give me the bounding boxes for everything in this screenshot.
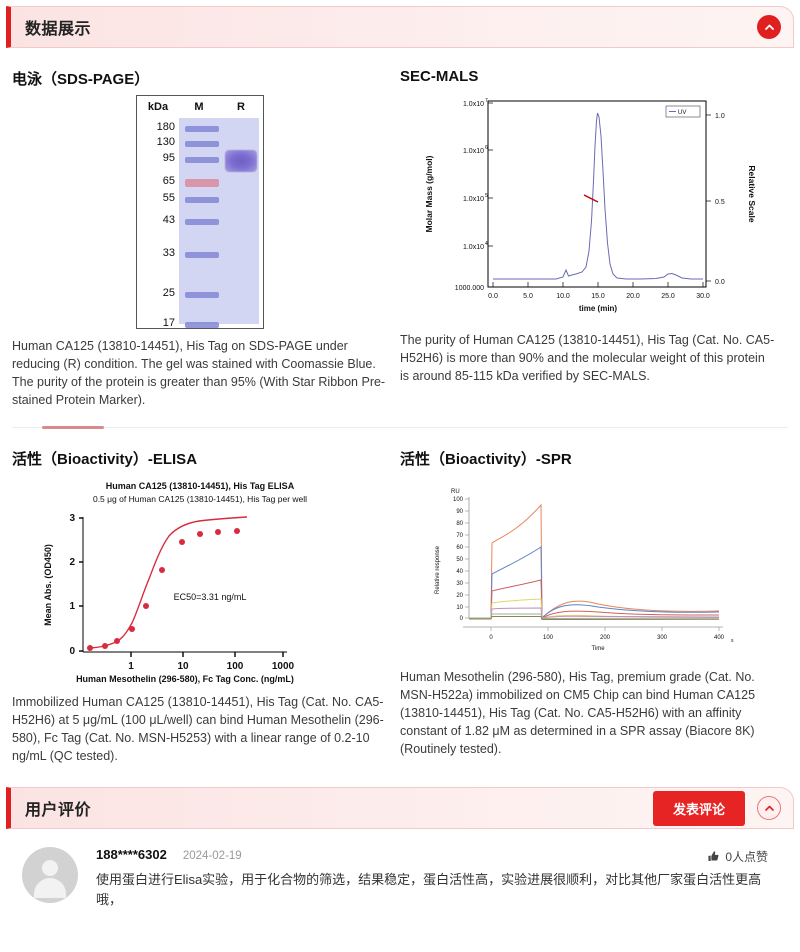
gel-band-33 bbox=[185, 252, 219, 258]
svg-text:15.0: 15.0 bbox=[591, 293, 605, 300]
gel-label-180: 180 bbox=[157, 121, 175, 133]
svg-text:100: 100 bbox=[227, 661, 244, 672]
gel-column-headers: kDa M R bbox=[137, 96, 263, 118]
figure-row-2: 活性（Bioactivity）-ELISA Human CA125 (13810… bbox=[12, 428, 788, 765]
svg-text:0.5: 0.5 bbox=[715, 199, 725, 206]
svg-text:25.0: 25.0 bbox=[661, 293, 675, 300]
gel-label-17: 17 bbox=[163, 317, 175, 329]
svg-text:1: 1 bbox=[69, 601, 75, 612]
review-content: 使用蛋白进行Elisa实验，用于化合物的筛选，结果稳定，蛋白活性高，实验进展很顺… bbox=[96, 870, 778, 910]
gel-band-130 bbox=[185, 141, 219, 147]
secmals-figure: 1.0x10 7 1.0x10 6 1.0x10 5 1.0x10 4 1000… bbox=[400, 91, 776, 323]
svg-text:UV: UV bbox=[678, 110, 686, 116]
review-section-banner: 用户评价 发表评论 bbox=[6, 787, 794, 829]
figure-row-1: 电泳（SDS-PAGE） kDa M R bbox=[12, 48, 788, 409]
svg-text:0: 0 bbox=[69, 646, 75, 657]
svg-text:20: 20 bbox=[456, 593, 463, 599]
figure-spr: 活性（Bioactivity）-SPR RU Relative response bbox=[400, 428, 788, 765]
svg-text:1.0x10: 1.0x10 bbox=[462, 196, 483, 203]
gel-image: kDa M R bbox=[136, 95, 264, 329]
gel-band-65 bbox=[185, 179, 219, 187]
svg-text:1000.000: 1000.000 bbox=[454, 285, 483, 292]
spr-chart: RU Relative response bbox=[423, 475, 753, 660]
page-root: 数据展示 电泳（SDS-PAGE） kDa M R bbox=[0, 6, 800, 952]
svg-text:Relative response: Relative response bbox=[435, 545, 441, 594]
elisa-chart: Human CA125 (13810-14451), His Tag ELISA… bbox=[35, 475, 365, 685]
gel-label-43: 43 bbox=[163, 214, 175, 226]
elisa-heading: 活性（Bioactivity）-ELISA bbox=[12, 448, 388, 469]
svg-text:6: 6 bbox=[485, 145, 488, 151]
svg-text:1: 1 bbox=[128, 661, 134, 672]
gel-sample-band bbox=[225, 150, 257, 172]
gel-band-25 bbox=[185, 292, 219, 298]
review-date: 2024-02-19 bbox=[183, 850, 242, 862]
svg-text:time (min): time (min) bbox=[578, 304, 617, 313]
gel-label-130: 130 bbox=[157, 136, 175, 148]
svg-text:1000: 1000 bbox=[272, 661, 295, 672]
gel-header-reducing: R bbox=[219, 101, 263, 113]
figure-elisa: 活性（Bioactivity）-ELISA Human CA125 (13810… bbox=[12, 428, 400, 765]
gel-band-95 bbox=[185, 157, 219, 163]
svg-text:10.0: 10.0 bbox=[556, 293, 570, 300]
svg-text:2: 2 bbox=[69, 557, 75, 568]
svg-text:10: 10 bbox=[177, 661, 189, 672]
gel-label-65: 65 bbox=[163, 175, 175, 187]
review-username: 188****6302 bbox=[96, 847, 167, 862]
secmals-chart: 1.0x10 7 1.0x10 6 1.0x10 5 1.0x10 4 1000… bbox=[416, 91, 761, 323]
svg-text:90: 90 bbox=[456, 509, 463, 515]
section-divider bbox=[12, 427, 788, 428]
gel-ladder-labels: 180 130 95 65 55 43 33 25 17 bbox=[137, 118, 179, 324]
svg-text:40: 40 bbox=[456, 569, 463, 575]
svg-text:7: 7 bbox=[485, 98, 488, 104]
spr-heading: 活性（Bioactivity）-SPR bbox=[400, 448, 776, 469]
user-avatar-icon bbox=[22, 847, 78, 903]
chevron-up-icon[interactable] bbox=[757, 15, 781, 39]
banner-actions bbox=[757, 15, 781, 39]
svg-text:400: 400 bbox=[714, 635, 725, 641]
gel-header-marker: M bbox=[179, 101, 219, 113]
gel-label-25: 25 bbox=[163, 287, 175, 299]
svg-text:Time: Time bbox=[591, 646, 605, 652]
svg-text:100: 100 bbox=[543, 635, 554, 641]
gel-band-43 bbox=[185, 219, 219, 225]
svg-text:1.0x10: 1.0x10 bbox=[462, 148, 483, 155]
review-list: 188****6302 2024-02-19 0人点赞 使用蛋白进行Elisa实… bbox=[0, 829, 800, 910]
svg-text:0.0: 0.0 bbox=[488, 293, 498, 300]
gel-band-55 bbox=[185, 197, 219, 203]
svg-text:20.0: 20.0 bbox=[626, 293, 640, 300]
svg-text:1.0x10: 1.0x10 bbox=[462, 244, 483, 251]
svg-text:60: 60 bbox=[456, 545, 463, 551]
svg-text:100: 100 bbox=[453, 497, 464, 503]
review-section-title: 用户评价 bbox=[25, 796, 91, 820]
svg-text:1.0: 1.0 bbox=[715, 113, 725, 120]
elisa-caption: Immobilized Human CA125 (13810-14451), H… bbox=[12, 693, 388, 765]
gel-label-33: 33 bbox=[163, 247, 175, 259]
svg-text:80: 80 bbox=[456, 521, 463, 527]
review-item: 188****6302 2024-02-19 0人点赞 使用蛋白进行Elisa实… bbox=[96, 847, 778, 910]
sdspage-caption: Human CA125 (13810-14451), His Tag on SD… bbox=[12, 337, 388, 409]
svg-text:30.0: 30.0 bbox=[696, 293, 710, 300]
svg-text:300: 300 bbox=[657, 635, 668, 641]
svg-text:30: 30 bbox=[456, 581, 463, 587]
spr-figure: RU Relative response bbox=[400, 475, 776, 660]
gel-band-180 bbox=[185, 126, 219, 132]
secmals-caption: The purity of Human CA125 (13810-14451),… bbox=[400, 331, 776, 385]
spr-caption: Human Mesothelin (296-580), His Tag, pre… bbox=[400, 668, 776, 758]
svg-text:0: 0 bbox=[460, 616, 464, 622]
svg-text:RU: RU bbox=[451, 489, 460, 495]
elisa-figure: Human CA125 (13810-14451), His Tag ELISA… bbox=[12, 475, 388, 685]
svg-text:50: 50 bbox=[456, 557, 463, 563]
svg-text:70: 70 bbox=[456, 533, 463, 539]
avatar-head bbox=[42, 860, 58, 876]
data-section-banner: 数据展示 bbox=[6, 6, 794, 48]
review-like-count: 0人点赞 bbox=[725, 848, 768, 865]
review-banner-actions: 发表评论 bbox=[653, 791, 781, 826]
gel-lane-area bbox=[179, 118, 259, 324]
elisa-title: Human CA125 (13810-14451), His Tag ELISA bbox=[106, 481, 295, 491]
thumbs-up-icon bbox=[707, 850, 720, 863]
svg-text:200: 200 bbox=[600, 635, 611, 641]
svg-text:Relative Scale: Relative Scale bbox=[747, 165, 757, 222]
gel-band-17 bbox=[185, 322, 219, 328]
svg-text:Human Mesothelin (296-580), Fc: Human Mesothelin (296-580), Fc Tag Conc.… bbox=[76, 674, 294, 684]
avatar-body bbox=[34, 878, 66, 898]
figure-secmals: SEC-MALS 1.0x10 7 1.0x10 6 1.0x10 5 1.0x… bbox=[400, 48, 788, 409]
svg-text:0.0: 0.0 bbox=[715, 279, 725, 286]
svg-text:EC50=3.31 ng/mL: EC50=3.31 ng/mL bbox=[174, 592, 247, 602]
secmals-heading: SEC-MALS bbox=[400, 68, 776, 85]
svg-text:s: s bbox=[731, 638, 734, 644]
publish-comment-button[interactable]: 发表评论 bbox=[653, 791, 745, 826]
svg-text:3: 3 bbox=[69, 513, 75, 524]
svg-text:10: 10 bbox=[456, 605, 463, 611]
svg-text:4: 4 bbox=[485, 241, 488, 247]
sdspage-figure: kDa M R bbox=[12, 95, 388, 329]
svg-text:0: 0 bbox=[489, 635, 493, 641]
svg-text:1.0x10: 1.0x10 bbox=[462, 101, 483, 108]
svg-text:Molar Mass (g/mol): Molar Mass (g/mol) bbox=[424, 155, 434, 232]
chevron-up-icon[interactable] bbox=[757, 796, 781, 820]
elisa-subtitle: 0.5 μg of Human CA125 (13810-14451), His… bbox=[93, 494, 307, 504]
svg-text:5.0: 5.0 bbox=[523, 293, 533, 300]
data-section-content: 电泳（SDS-PAGE） kDa M R bbox=[0, 48, 800, 765]
gel-header-kda: kDa bbox=[137, 101, 179, 113]
svg-text:5: 5 bbox=[485, 193, 488, 199]
gel-label-55: 55 bbox=[163, 192, 175, 204]
gel-label-95: 95 bbox=[163, 152, 175, 164]
sdspage-heading: 电泳（SDS-PAGE） bbox=[12, 68, 388, 89]
svg-text:Mean Abs. (OD450): Mean Abs. (OD450) bbox=[43, 544, 53, 626]
review-meta: 188****6302 2024-02-19 bbox=[96, 847, 778, 862]
figure-sdspage: 电泳（SDS-PAGE） kDa M R bbox=[12, 48, 400, 409]
review-like-button[interactable]: 0人点赞 bbox=[707, 848, 768, 865]
data-section-title: 数据展示 bbox=[25, 15, 91, 39]
